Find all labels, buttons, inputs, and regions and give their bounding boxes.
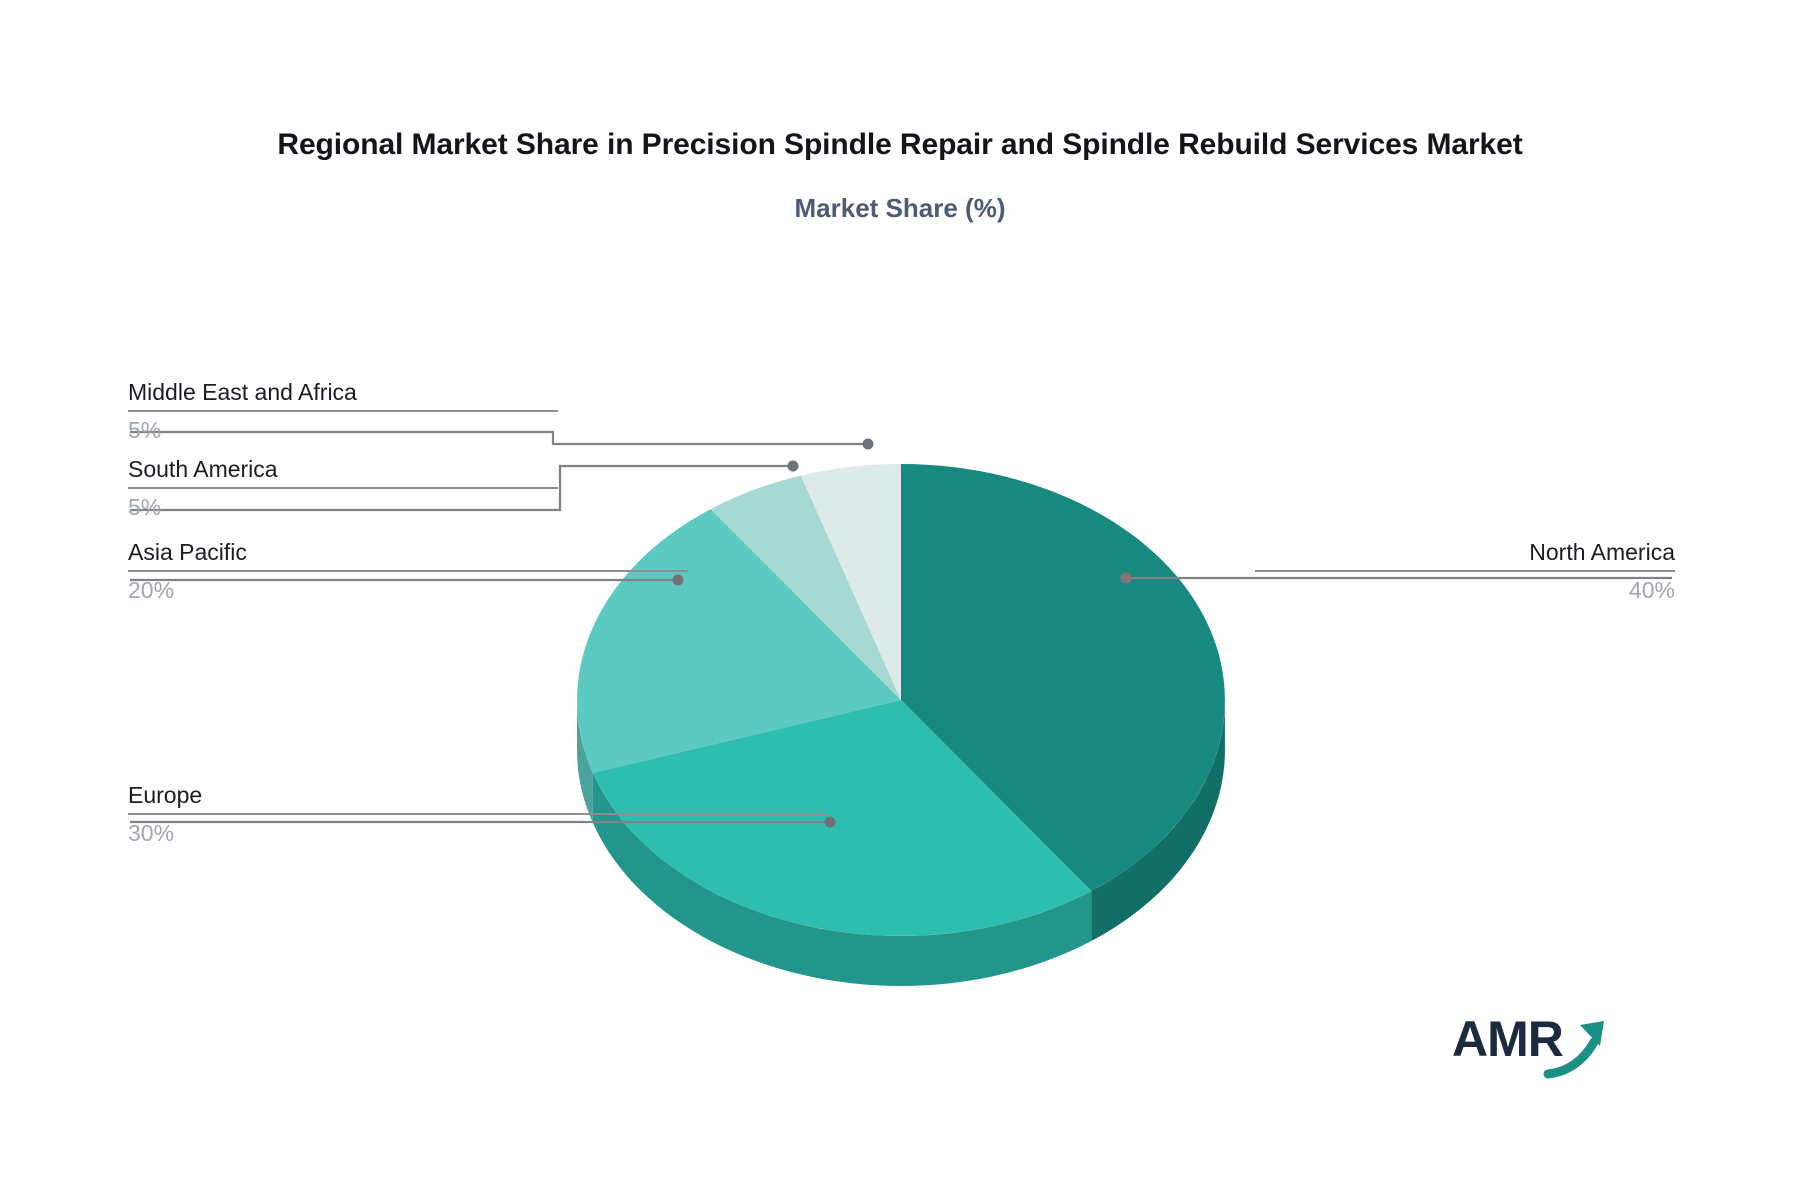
callout-north-america[interactable]: North America 40% — [1255, 540, 1675, 603]
callout-value-europe: 30% — [128, 815, 828, 846]
callout-label-north-america: North America — [1255, 540, 1675, 570]
callout-asia-pacific[interactable]: Asia Pacific 20% — [128, 540, 688, 603]
callout-label-middle-east-and-africa: Middle East and Africa — [128, 380, 558, 410]
leader-dot-north-america — [1121, 573, 1132, 584]
chart-canvas: Regional Market Share in Precision Spind… — [0, 0, 1800, 1196]
leader-dot-south-america — [788, 461, 799, 472]
callout-south-america[interactable]: South America 5% — [128, 457, 558, 520]
callout-label-asia-pacific: Asia Pacific — [128, 540, 688, 570]
callout-middle-east-and-africa[interactable]: Middle East and Africa 5% — [128, 380, 558, 443]
callout-europe[interactable]: Europe 30% — [128, 783, 828, 846]
callout-value-asia-pacific: 20% — [128, 572, 688, 603]
callout-value-south-america: 5% — [128, 489, 558, 520]
amr-logo: AMR — [1452, 1008, 1637, 1083]
callout-label-south-america: South America — [128, 457, 558, 487]
callout-value-middle-east-and-africa: 5% — [128, 412, 558, 443]
callout-value-north-america: 40% — [1255, 572, 1675, 603]
callout-label-europe: Europe — [128, 783, 828, 813]
pie-top-face — [577, 464, 1225, 936]
growth-arrow-icon — [1452, 1008, 1637, 1083]
leader-dot-middle-east-and-africa — [863, 439, 874, 450]
